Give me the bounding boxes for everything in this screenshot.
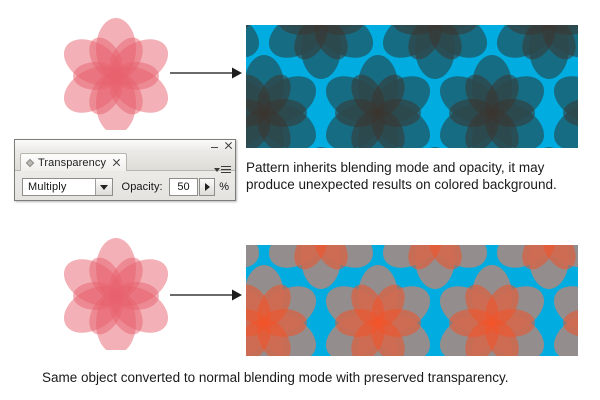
- panel-menu-button[interactable]: [214, 166, 231, 173]
- flower-svg-multiply: [57, 18, 175, 130]
- opacity-input[interactable]: 50: [169, 178, 199, 196]
- arrow-right-icon: [170, 288, 242, 302]
- close-icon: [224, 141, 232, 149]
- panel-tab-row: Transparency: [15, 152, 235, 171]
- arrow-right-icon: [170, 66, 242, 80]
- opacity-unit: %: [219, 181, 229, 193]
- tab-transparency[interactable]: Transparency: [20, 153, 127, 171]
- panel-menu-triangle-icon: [214, 168, 220, 172]
- flower-svg-normal: [57, 238, 175, 350]
- source-flower-bottom: [57, 238, 175, 350]
- panel-controls: Multiply Opacity: 50 %: [22, 178, 229, 196]
- transparency-panel[interactable]: Transparency Multiply Opacity: 50 %: [14, 139, 236, 201]
- pattern-svg-multiply: [246, 25, 578, 148]
- caption-bottom: Same object converted to normal blending…: [42, 370, 572, 386]
- pattern-svg-normal: [246, 245, 578, 356]
- window-controls: [210, 140, 232, 150]
- tab-close-icon[interactable]: [112, 159, 120, 167]
- source-flower-top: [57, 18, 175, 130]
- diamond-icon: [26, 158, 34, 166]
- pattern-preview-normal: [246, 245, 578, 356]
- chevron-right-icon: [205, 183, 210, 191]
- caption-top: Pattern inherits blending mode and opaci…: [246, 160, 576, 193]
- arrow-right-bottom: [170, 288, 242, 302]
- panel-menu-icon: [221, 166, 231, 173]
- opacity-stepper-button[interactable]: [199, 178, 215, 196]
- pattern-preview-multiply: [246, 25, 578, 148]
- blend-mode-select[interactable]: Multiply: [22, 178, 113, 196]
- minimize-button[interactable]: [210, 140, 219, 150]
- arrow-right-top: [170, 66, 242, 80]
- blend-mode-value: Multiply: [23, 181, 67, 193]
- close-window-button[interactable]: [223, 140, 232, 150]
- tab-label: Transparency: [38, 157, 106, 169]
- chevron-down-icon: [100, 185, 108, 190]
- minimize-icon: [211, 147, 218, 148]
- opacity-label: Opacity:: [122, 181, 163, 193]
- blend-mode-dropdown-button[interactable]: [95, 179, 112, 195]
